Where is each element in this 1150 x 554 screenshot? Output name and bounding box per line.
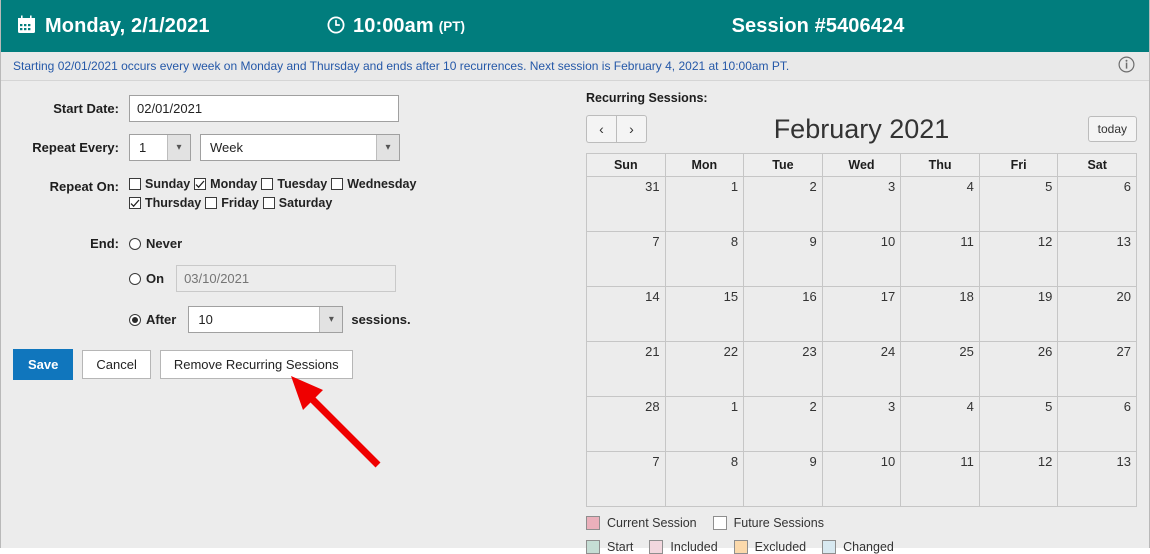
- legend-swatch-start: [586, 540, 600, 554]
- radio-circle-never: [129, 238, 141, 250]
- end-on-row: On: [1, 265, 580, 292]
- calendar-day-cell[interactable]: 2: [744, 397, 823, 452]
- calendar-day-cell[interactable]: 12: [979, 232, 1058, 287]
- calendar-grid: Sun Mon Tue Wed Thu Fri Sat 311234567891…: [586, 153, 1137, 507]
- calendar-icon: [17, 15, 36, 37]
- weekday-fri: Fri: [979, 154, 1058, 177]
- repeat-every-row: Repeat Every: 1 ▾ Week ▾: [1, 134, 580, 161]
- weekday-sun: Sun: [587, 154, 666, 177]
- checkbox-monday[interactable]: Monday: [194, 177, 257, 191]
- checkbox-box-sunday: [129, 178, 141, 190]
- chevron-down-icon: ▾: [167, 135, 190, 160]
- calendar-day-cell[interactable]: 8: [665, 232, 744, 287]
- weekday-thu: Thu: [901, 154, 980, 177]
- radio-end-on[interactable]: On: [129, 271, 172, 286]
- checkbox-label-saturday: Saturday: [279, 196, 333, 210]
- calendar-day-cell[interactable]: 1: [665, 397, 744, 452]
- legend-label-excluded: Excluded: [755, 540, 806, 554]
- weekday-sat: Sat: [1058, 154, 1137, 177]
- legend-item-future-sessions: Future Sessions: [713, 516, 824, 530]
- end-after-row: After 10 ▾ sessions.: [1, 306, 580, 333]
- checkbox-thursday[interactable]: Thursday: [129, 196, 201, 210]
- radio-end-never[interactable]: Never: [129, 236, 190, 251]
- end-after-count-value: 10: [198, 312, 319, 327]
- calendar-day-cell[interactable]: 11: [901, 232, 980, 287]
- radio-circle-after: [129, 314, 141, 326]
- header-time-group: 10:00am (PT): [327, 15, 607, 38]
- header-time-text: 10:00am: [353, 15, 434, 38]
- legend-item-included: Included: [649, 540, 717, 554]
- checkbox-friday[interactable]: Friday: [205, 196, 259, 210]
- calendar-day-cell[interactable]: 9: [744, 452, 823, 507]
- session-id-text: Session #5406424: [732, 15, 905, 38]
- header-timezone-text: (PT): [439, 19, 465, 34]
- end-never-row: End: Never: [1, 236, 580, 251]
- checkbox-box-tuesday: [261, 178, 273, 190]
- radio-end-after[interactable]: After: [129, 312, 184, 327]
- legend-swatch-excluded: [734, 540, 748, 554]
- header-session-group: Session #5406424: [607, 15, 1149, 38]
- repeat-on-row: Repeat On: Sunday Monday: [1, 177, 580, 210]
- checkbox-label-tuesday: Tuesday: [277, 177, 327, 191]
- repeat-on-row-2: Thursday Friday Saturday: [129, 196, 420, 210]
- checkbox-saturday[interactable]: Saturday: [263, 196, 333, 210]
- repeat-interval-select[interactable]: 1 ▾: [129, 134, 191, 161]
- legend-row-sessions: Current Session Future Sessions: [586, 516, 1137, 530]
- calendar-day-cell[interactable]: 16: [744, 287, 823, 342]
- calendar-day-cell[interactable]: 24: [822, 342, 901, 397]
- calendar-day-cell[interactable]: 13: [1058, 232, 1137, 287]
- calendar-day-cell[interactable]: 14: [587, 287, 666, 342]
- calendar-day-cell[interactable]: 12: [979, 452, 1058, 507]
- save-button[interactable]: Save: [13, 349, 73, 380]
- start-date-row: Start Date:: [1, 95, 580, 122]
- checkbox-box-saturday: [263, 197, 275, 209]
- calendar-day-cell[interactable]: 21: [587, 342, 666, 397]
- calendar-week-row: 31123456: [587, 177, 1137, 232]
- repeat-interval-value: 1: [139, 140, 167, 155]
- calendar-week-row: 78910111213: [587, 452, 1137, 507]
- calendar-day-cell[interactable]: 25: [901, 342, 980, 397]
- checkbox-label-wednesday: Wednesday: [347, 177, 416, 191]
- recurrence-form: Start Date: Repeat Every: 1 ▾ Week ▾ Rep…: [1, 81, 580, 548]
- legend-item-start: Start: [586, 540, 633, 554]
- next-month-button[interactable]: ›: [616, 115, 647, 143]
- chevron-right-icon: ›: [629, 121, 634, 137]
- header-date-group: Monday, 2/1/2021: [1, 15, 327, 38]
- remove-recurring-sessions-button[interactable]: Remove Recurring Sessions: [160, 350, 353, 379]
- repeat-every-label: Repeat Every:: [1, 140, 129, 155]
- calendar-day-cell[interactable]: 5: [979, 397, 1058, 452]
- calendar-week-row: 78910111213: [587, 232, 1137, 287]
- checkbox-wednesday[interactable]: Wednesday: [331, 177, 416, 191]
- header-date-text: Monday, 2/1/2021: [45, 15, 210, 38]
- info-circle-icon[interactable]: [1118, 56, 1135, 76]
- checkbox-label-monday: Monday: [210, 177, 257, 191]
- checkbox-box-monday: [194, 178, 206, 190]
- calendar-day-cell[interactable]: 17: [822, 287, 901, 342]
- calendar-day-cell[interactable]: 4: [901, 177, 980, 232]
- repeat-on-checkbox-group: Sunday Monday Tuesday: [129, 177, 420, 210]
- legend-label-changed: Changed: [843, 540, 894, 554]
- repeat-on-row-1: Sunday Monday Tuesday: [129, 177, 420, 191]
- calendar-day-cell[interactable]: 9: [744, 232, 823, 287]
- legend-swatch-included: [649, 540, 663, 554]
- end-label: End:: [1, 236, 129, 251]
- calendar-panel: Recurring Sessions: ‹ › February 2021 to…: [580, 81, 1149, 548]
- calendar-day-cell[interactable]: 7: [587, 232, 666, 287]
- radio-label-after: After: [146, 312, 176, 327]
- calendar-weekday-header: Sun Mon Tue Wed Thu Fri Sat: [587, 154, 1137, 177]
- weekday-tue: Tue: [744, 154, 823, 177]
- recurrence-info-bar: Starting 02/01/2021 occurs every week on…: [1, 52, 1149, 81]
- calendar-day-cell[interactable]: 1: [665, 177, 744, 232]
- radio-label-never: Never: [146, 236, 182, 251]
- recurrence-summary-text: Starting 02/01/2021 occurs every week on…: [13, 59, 789, 73]
- start-date-label: Start Date:: [1, 101, 129, 116]
- legend-item-excluded: Excluded: [734, 540, 806, 554]
- calendar-day-cell[interactable]: 31: [587, 177, 666, 232]
- cancel-button[interactable]: Cancel: [82, 350, 150, 379]
- repeat-unit-select[interactable]: Week ▾: [200, 134, 400, 161]
- calendar-day-cell[interactable]: 10: [822, 452, 901, 507]
- recurring-session-editor: Monday, 2/1/2021 10:00am (PT) Session #5…: [0, 0, 1150, 548]
- end-on-date-input[interactable]: [176, 265, 396, 292]
- radio-label-on: On: [146, 271, 164, 286]
- calendar-title: February 2021: [586, 114, 1137, 145]
- checkbox-tuesday[interactable]: Tuesday: [261, 177, 327, 191]
- legend-label-included: Included: [670, 540, 717, 554]
- calendar-day-cell[interactable]: 23: [744, 342, 823, 397]
- calendar-day-cell[interactable]: 22: [665, 342, 744, 397]
- chevron-left-icon: ‹: [599, 121, 604, 137]
- legend-label-future-sessions: Future Sessions: [734, 516, 824, 530]
- clock-icon: [327, 16, 345, 37]
- calendar-day-cell[interactable]: 18: [901, 287, 980, 342]
- calendar-day-cell[interactable]: 8: [665, 452, 744, 507]
- calendar-day-cell[interactable]: 2: [744, 177, 823, 232]
- recurring-sessions-label: Recurring Sessions:: [586, 91, 1137, 105]
- legend-swatch-current-session: [586, 516, 600, 530]
- legend-swatch-changed: [822, 540, 836, 554]
- editor-body: Start Date: Repeat Every: 1 ▾ Week ▾ Rep…: [1, 81, 1149, 548]
- calendar-day-cell[interactable]: 10: [822, 232, 901, 287]
- end-after-count-select[interactable]: 10 ▾: [188, 306, 343, 333]
- calendar-week-row: 21222324252627: [587, 342, 1137, 397]
- sessions-suffix-label: sessions.: [351, 312, 410, 327]
- legend-item-changed: Changed: [822, 540, 894, 554]
- calendar-week-row: 28123456: [587, 397, 1137, 452]
- repeat-on-label: Repeat On:: [1, 177, 129, 194]
- calendar-toolbar: ‹ › February 2021 today: [586, 111, 1137, 147]
- calendar-day-cell[interactable]: 3: [822, 397, 901, 452]
- calendar-day-cell[interactable]: 20: [1058, 287, 1137, 342]
- legend-label-start: Start: [607, 540, 633, 554]
- today-button[interactable]: today: [1088, 116, 1137, 142]
- weekday-wed: Wed: [822, 154, 901, 177]
- calendar-day-cell[interactable]: 27: [1058, 342, 1137, 397]
- calendar-day-cell[interactable]: 6: [1058, 397, 1137, 452]
- start-date-input[interactable]: [129, 95, 399, 122]
- chevron-down-icon: ▾: [319, 307, 342, 332]
- calendar-day-cell[interactable]: 26: [979, 342, 1058, 397]
- calendar-day-cell[interactable]: 7: [587, 452, 666, 507]
- calendar-day-cell[interactable]: 15: [665, 287, 744, 342]
- calendar-day-cell[interactable]: 5: [979, 177, 1058, 232]
- prev-month-button[interactable]: ‹: [586, 115, 616, 143]
- calendar-day-cell[interactable]: 28: [587, 397, 666, 452]
- legend-row-states: Start Included Excluded Changed: [586, 540, 1137, 554]
- radio-circle-on: [129, 273, 141, 285]
- weekday-mon: Mon: [665, 154, 744, 177]
- checkbox-sunday[interactable]: Sunday: [129, 177, 190, 191]
- checkbox-label-thursday: Thursday: [145, 196, 201, 210]
- checkbox-label-friday: Friday: [221, 196, 259, 210]
- calendar-legend: Current Session Future Sessions Start In…: [586, 516, 1137, 554]
- legend-swatch-future-sessions: [713, 516, 727, 530]
- checkbox-label-sunday: Sunday: [145, 177, 190, 191]
- calendar-day-cell[interactable]: 19: [979, 287, 1058, 342]
- repeat-unit-value: Week: [210, 140, 376, 155]
- session-header-bar: Monday, 2/1/2021 10:00am (PT) Session #5…: [1, 0, 1149, 52]
- legend-label-current-session: Current Session: [607, 516, 697, 530]
- calendar-day-cell[interactable]: 4: [901, 397, 980, 452]
- calendar-day-cell[interactable]: 11: [901, 452, 980, 507]
- form-action-buttons: Save Cancel Remove Recurring Sessions: [1, 349, 580, 380]
- checkbox-box-wednesday: [331, 178, 343, 190]
- legend-item-current-session: Current Session: [586, 516, 697, 530]
- calendar-body: 3112345678910111213141516171819202122232…: [587, 177, 1137, 507]
- calendar-day-cell[interactable]: 6: [1058, 177, 1137, 232]
- calendar-nav-group: ‹ ›: [586, 115, 647, 143]
- calendar-week-row: 14151617181920: [587, 287, 1137, 342]
- calendar-day-cell[interactable]: 13: [1058, 452, 1137, 507]
- calendar-day-cell[interactable]: 3: [822, 177, 901, 232]
- chevron-down-icon: ▾: [376, 135, 399, 160]
- checkbox-box-friday: [205, 197, 217, 209]
- checkbox-box-thursday: [129, 197, 141, 209]
